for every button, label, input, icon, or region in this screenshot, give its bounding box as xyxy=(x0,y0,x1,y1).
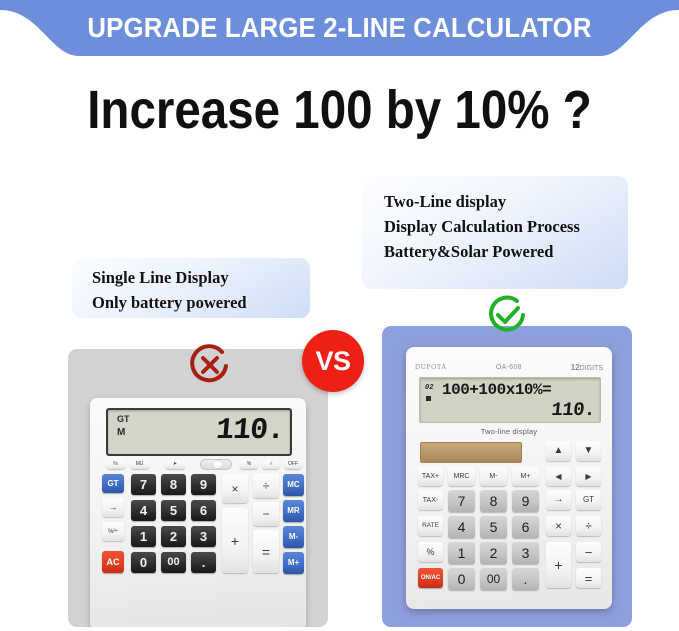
callout-left-line-2: Only battery powered xyxy=(92,290,310,315)
brand-name: DUPOTA xyxy=(415,363,447,371)
callout-right-line-1: Two-Line display xyxy=(384,189,628,214)
key-minus[interactable]: − xyxy=(576,542,601,562)
key-arrow-left[interactable]: ◀ xyxy=(546,467,571,486)
key-0[interactable]: 0 xyxy=(448,568,475,590)
key-00[interactable]: 00 xyxy=(161,552,186,573)
model-number: OA-608 xyxy=(496,364,522,371)
key-mu[interactable]: MU xyxy=(130,460,149,469)
callout-box-standard: Single Line Display Only battery powered xyxy=(72,258,310,318)
key-percent[interactable]: % xyxy=(418,542,443,562)
key-percent-top[interactable]: % xyxy=(106,460,125,469)
power-slide-switch[interactable] xyxy=(200,459,232,470)
display-line-2: 110. xyxy=(441,399,596,421)
key-m-plus[interactable]: M+ xyxy=(283,552,304,574)
key-2[interactable]: 2 xyxy=(480,542,507,564)
key-plus[interactable]: + xyxy=(546,542,571,588)
key-2[interactable]: 2 xyxy=(161,526,186,547)
key-1[interactable]: 1 xyxy=(131,526,156,547)
key-arrow-down[interactable]: ▼ xyxy=(576,441,601,461)
digits-label: 12DIGITS xyxy=(571,363,603,372)
key-multiply[interactable]: × xyxy=(546,516,571,536)
key-divide[interactable]: ÷ xyxy=(576,516,601,536)
key-7[interactable]: 7 xyxy=(131,474,156,495)
callout-box-upgraded: Two-Line display Display Calculation Pro… xyxy=(362,176,628,289)
key-5[interactable]: 5 xyxy=(161,500,186,521)
key-6[interactable]: 6 xyxy=(191,500,216,521)
product-panel-upgraded: DUPOTA OA-608 12DIGITS 02 100+100x10%= 1… xyxy=(382,326,632,627)
key-decimal[interactable]: . xyxy=(512,568,539,590)
circle-check-icon xyxy=(484,292,530,338)
key-6[interactable]: 6 xyxy=(512,516,539,538)
switch-nub xyxy=(213,461,222,468)
key-rate[interactable]: RATE xyxy=(418,516,443,536)
key-m-plus[interactable]: M+ xyxy=(512,467,539,486)
key-arrow-up[interactable]: ▲ xyxy=(546,441,571,461)
solar-panel xyxy=(420,442,522,463)
digits-word: DIGITS xyxy=(580,365,603,372)
page-headline: Increase 100 by 10% ? xyxy=(41,83,639,137)
key-mc[interactable]: MC xyxy=(283,474,304,496)
key-ac[interactable]: AC xyxy=(102,551,124,573)
key-percent-2[interactable]: % xyxy=(240,460,258,469)
display-two-line: 02 100+100x10%= 110. xyxy=(419,377,601,423)
reject-badge xyxy=(186,341,234,389)
key-arrow-small[interactable]: ➤ xyxy=(165,460,185,469)
display-indicator-m: M xyxy=(117,427,125,438)
header-banner: UPGRADE LARGE 2-LINE CALCULATOR xyxy=(0,0,679,62)
key-multiply[interactable]: × xyxy=(222,474,248,503)
key-gt[interactable]: GT xyxy=(576,490,601,510)
key-m-minus[interactable]: M- xyxy=(283,526,304,548)
key-1[interactable]: 1 xyxy=(448,542,475,564)
circle-x-icon xyxy=(186,341,234,389)
key-tax-minus[interactable]: TAX- xyxy=(418,490,443,510)
key-minus[interactable]: − xyxy=(253,502,279,526)
product-comparison-infographic: UPGRADE LARGE 2-LINE CALCULATOR Increase… xyxy=(0,0,679,631)
callout-right-line-2: Display Calculation Process xyxy=(384,214,628,239)
display-single-line: GT M 110. xyxy=(106,408,292,456)
key-percent-divide[interactable]: %⁄÷ xyxy=(102,522,124,541)
key-gt[interactable]: GT xyxy=(102,474,124,493)
digits-count: 12 xyxy=(571,363,580,372)
callout-left-line-1: Single Line Display xyxy=(92,265,310,290)
banner-title: UPGRADE LARGE 2-LINE CALCULATOR xyxy=(27,0,652,56)
key-off[interactable]: OFF xyxy=(284,460,302,469)
key-9[interactable]: 9 xyxy=(512,490,539,512)
key-divide[interactable]: ÷ xyxy=(253,474,279,498)
approve-badge xyxy=(484,292,530,338)
key-4[interactable]: 4 xyxy=(131,500,156,521)
callout-right-line-3: Battery&Solar Powered xyxy=(384,239,628,264)
key-9[interactable]: 9 xyxy=(191,474,216,495)
key-right-shift[interactable]: → xyxy=(102,498,124,517)
display-line-1: 100+100x10%= xyxy=(442,381,594,399)
calculator-upgraded: DUPOTA OA-608 12DIGITS 02 100+100x10%= 1… xyxy=(406,347,612,609)
key-mr[interactable]: MR xyxy=(283,500,304,522)
key-sqrt[interactable]: √ xyxy=(262,460,280,469)
two-line-display-caption: Two-line display xyxy=(406,427,612,436)
key-arrow-right[interactable]: ▶ xyxy=(576,467,601,486)
key-0[interactable]: 0 xyxy=(131,552,156,573)
key-4[interactable]: 4 xyxy=(448,516,475,538)
display-step-indicator: 02 xyxy=(425,384,433,392)
key-8[interactable]: 8 xyxy=(480,490,507,512)
key-on-ac[interactable]: ON/AC xyxy=(418,568,443,588)
display-value: 110. xyxy=(214,414,285,448)
key-5[interactable]: 5 xyxy=(480,516,507,538)
key-decimal[interactable]: . xyxy=(191,552,216,573)
key-00[interactable]: 00 xyxy=(480,568,507,590)
key-equals[interactable]: = xyxy=(576,568,601,588)
display-memory-flag-icon xyxy=(426,396,431,401)
key-8[interactable]: 8 xyxy=(161,474,186,495)
key-equals[interactable]: = xyxy=(253,530,279,573)
key-3[interactable]: 3 xyxy=(512,542,539,564)
key-tax-plus[interactable]: TAX+ xyxy=(418,467,443,486)
product-panel-standard: GT M 110. % MU ➤ % √ OFF GT → %⁄÷ AC 7 xyxy=(68,349,328,627)
vs-badge: VS xyxy=(302,330,364,392)
key-plus[interactable]: + xyxy=(222,508,248,573)
key-7[interactable]: 7 xyxy=(448,490,475,512)
key-mrc[interactable]: MRC xyxy=(448,467,475,486)
display-indicator-gt: GT xyxy=(117,414,130,424)
key-right-shift[interactable]: → xyxy=(546,490,571,510)
brand-row: DUPOTA OA-608 12DIGITS xyxy=(415,361,603,373)
key-m-minus[interactable]: M- xyxy=(480,467,507,486)
key-3[interactable]: 3 xyxy=(191,526,216,547)
calculator-standard: GT M 110. % MU ➤ % √ OFF GT → %⁄÷ AC 7 xyxy=(90,398,306,627)
